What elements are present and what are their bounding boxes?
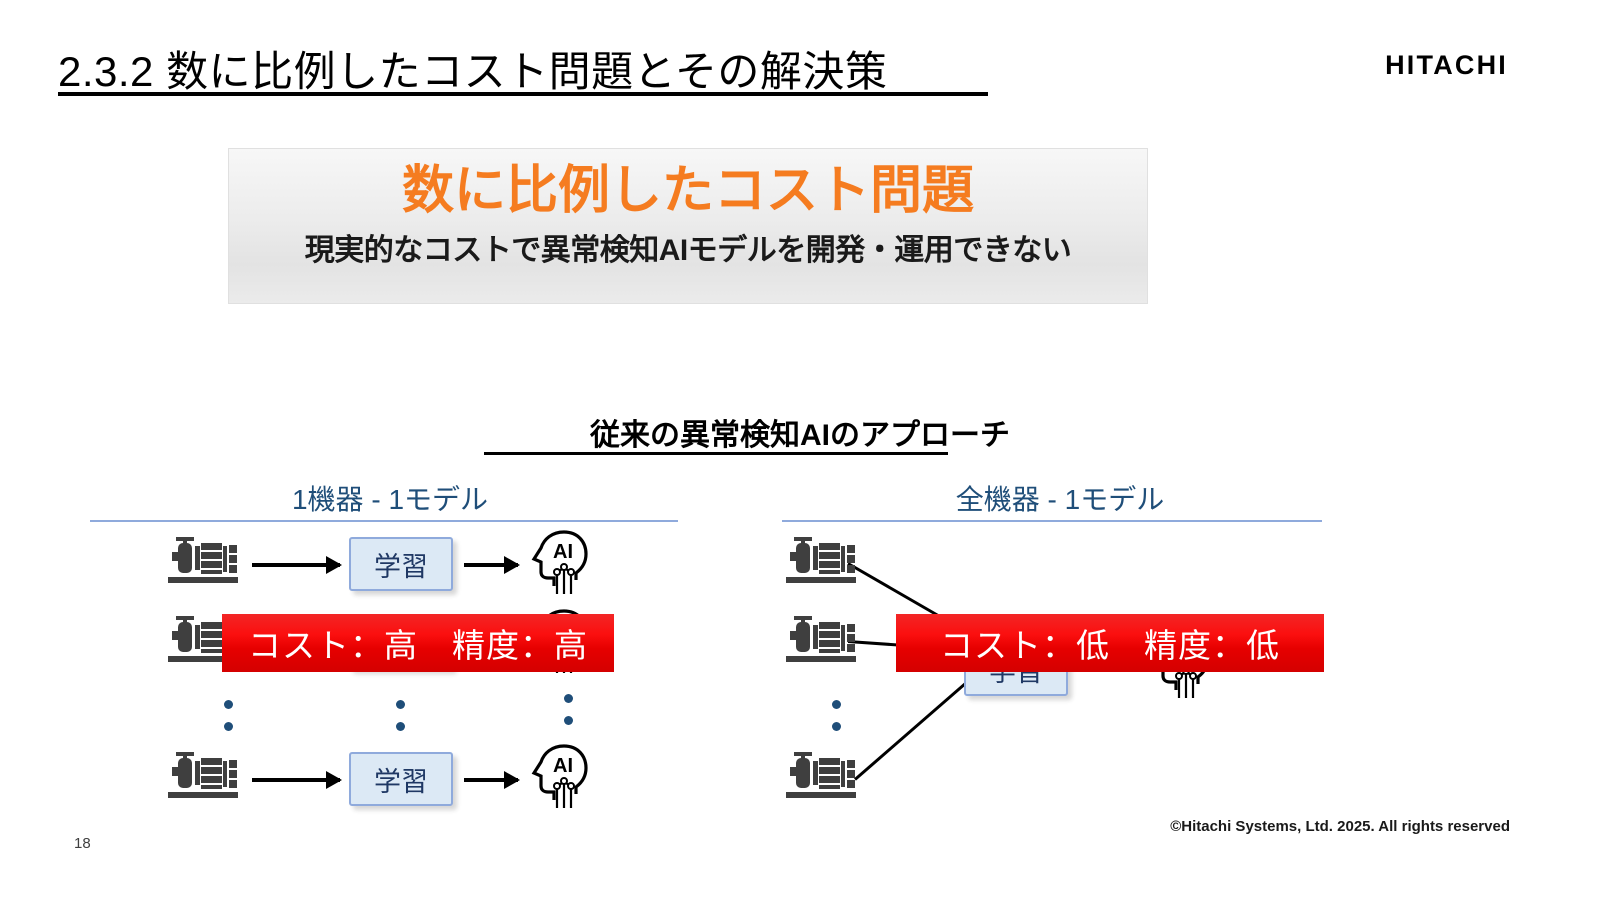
machine-icon bbox=[782, 748, 858, 806]
svg-text:AI: AI bbox=[553, 541, 573, 563]
ellipsis-dots-machines bbox=[832, 700, 841, 731]
flow-arrow bbox=[464, 563, 518, 567]
column-heading-all-to-one: 全機器 - 1モデル bbox=[820, 478, 1300, 518]
flow-arrow bbox=[464, 778, 518, 782]
copyright-notice: ©Hitachi Systems, Ltd. 2025. All rights … bbox=[1170, 818, 1510, 835]
column-heading-one-to-one: 1機器 - 1モデル bbox=[90, 478, 690, 518]
callout-banner-right-text: コスト：低 精度：低 bbox=[940, 619, 1280, 667]
ellipsis-dots-learn bbox=[396, 700, 405, 731]
ellipsis-dots-ai bbox=[564, 694, 573, 725]
problem-subtitle: 現実的なコストで異常検知AIモデルを開発・運用できない bbox=[229, 225, 1147, 269]
hitachi-logo: HITACHI bbox=[1385, 50, 1508, 81]
machine-icon bbox=[164, 533, 240, 591]
callout-banner-left: コスト：高 精度：高 bbox=[222, 614, 614, 672]
machine-icon bbox=[782, 612, 858, 670]
learn-box-label: 学習 bbox=[374, 545, 428, 584]
ellipsis-dots-machines bbox=[224, 700, 233, 731]
column-rule-left bbox=[90, 520, 678, 522]
learn-box: 学習 bbox=[349, 537, 453, 591]
callout-banner-right: コスト：低 精度：低 bbox=[896, 614, 1324, 672]
page-title: 2.3.2 数に比例したコスト問題とその解決策 bbox=[58, 38, 887, 99]
ai-model-icon: AI bbox=[530, 742, 592, 812]
slide-canvas: 2.3.2 数に比例したコスト問題とその解決策 HITACHI 数に比例したコス… bbox=[0, 0, 1600, 898]
ai-model-icon: AI bbox=[530, 528, 592, 598]
callout-banner-left-text: コスト：高 精度：高 bbox=[248, 619, 588, 667]
page-number: 18 bbox=[74, 835, 91, 852]
flow-arrow bbox=[252, 778, 340, 782]
machine-icon bbox=[782, 533, 858, 591]
title-underline bbox=[58, 92, 988, 96]
svg-text:AI: AI bbox=[553, 755, 573, 777]
flow-arrow bbox=[252, 563, 340, 567]
learn-box-label: 学習 bbox=[374, 760, 428, 799]
approach-section-title: 従来の異常検知AIのアプローチ bbox=[0, 410, 1600, 454]
problem-statement-box: 数に比例したコスト問題 現実的なコストで異常検知AIモデルを開発・運用できない bbox=[228, 148, 1148, 304]
machine-icon bbox=[164, 748, 240, 806]
learn-box: 学習 bbox=[349, 752, 453, 806]
approach-title-underline bbox=[484, 452, 948, 455]
problem-headline: 数に比例したコスト問題 bbox=[229, 163, 1147, 220]
column-rule-right bbox=[782, 520, 1322, 522]
